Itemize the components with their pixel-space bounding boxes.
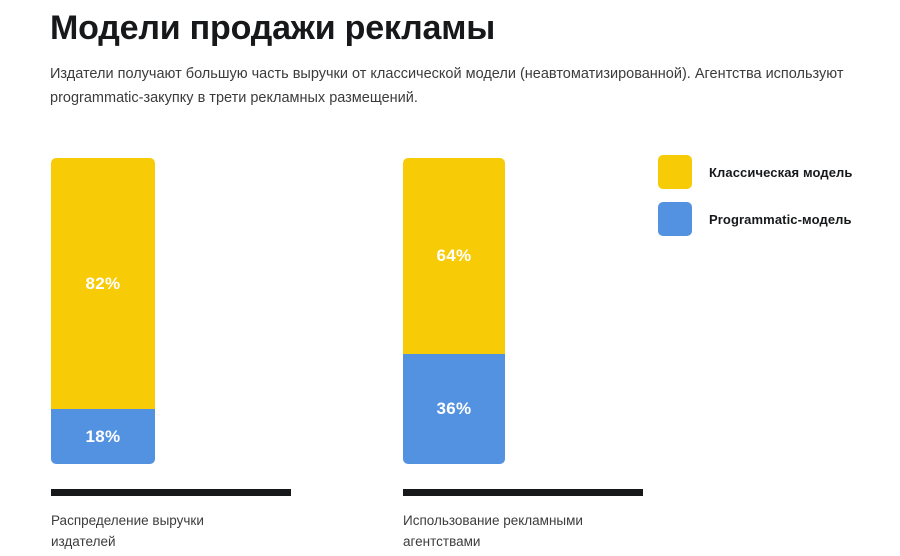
bar-segment-classic[interactable]: 64% — [403, 158, 505, 354]
legend-swatch-icon — [658, 202, 692, 236]
legend-item-label: Programmatic-модель — [709, 212, 852, 227]
bar-segment-value: 18% — [86, 428, 121, 445]
bar-segment-value: 64% — [437, 247, 472, 264]
stacked-bar: 64% 36% — [403, 158, 505, 464]
category-label: Использование рекламными агентствами — [403, 510, 588, 552]
caption-rule — [51, 489, 291, 496]
bar-group-publishers: 82% 18% — [51, 158, 155, 464]
category-caption-agencies: Использование рекламными агентствами — [403, 489, 643, 552]
legend-item-label: Классическая модель — [709, 165, 853, 180]
legend-item-classic[interactable]: Классическая модель — [658, 155, 888, 189]
bar-segment-programmatic[interactable]: 36% — [403, 354, 505, 464]
bar-segment-value: 36% — [437, 400, 472, 417]
legend-item-programmatic[interactable]: Programmatic-модель — [658, 202, 888, 236]
category-caption-publishers: Распределение выручки издателей — [51, 489, 291, 552]
chart-legend: Классическая модель Programmatic-модель — [658, 155, 888, 249]
infographic-root: Модели продажи рекламы Издатели получают… — [0, 0, 900, 556]
caption-rule — [403, 489, 643, 496]
bar-segment-classic[interactable]: 82% — [51, 158, 155, 409]
bar-segment-programmatic[interactable]: 18% — [51, 409, 155, 464]
stacked-bar-chart: 82% 18% 64% 36% Распределение выручки из… — [0, 0, 900, 556]
legend-swatch-icon — [658, 155, 692, 189]
bar-segment-value: 82% — [86, 275, 121, 292]
bar-group-agencies: 64% 36% — [403, 158, 505, 464]
category-label: Распределение выручки издателей — [51, 510, 236, 552]
stacked-bar: 82% 18% — [51, 158, 155, 464]
